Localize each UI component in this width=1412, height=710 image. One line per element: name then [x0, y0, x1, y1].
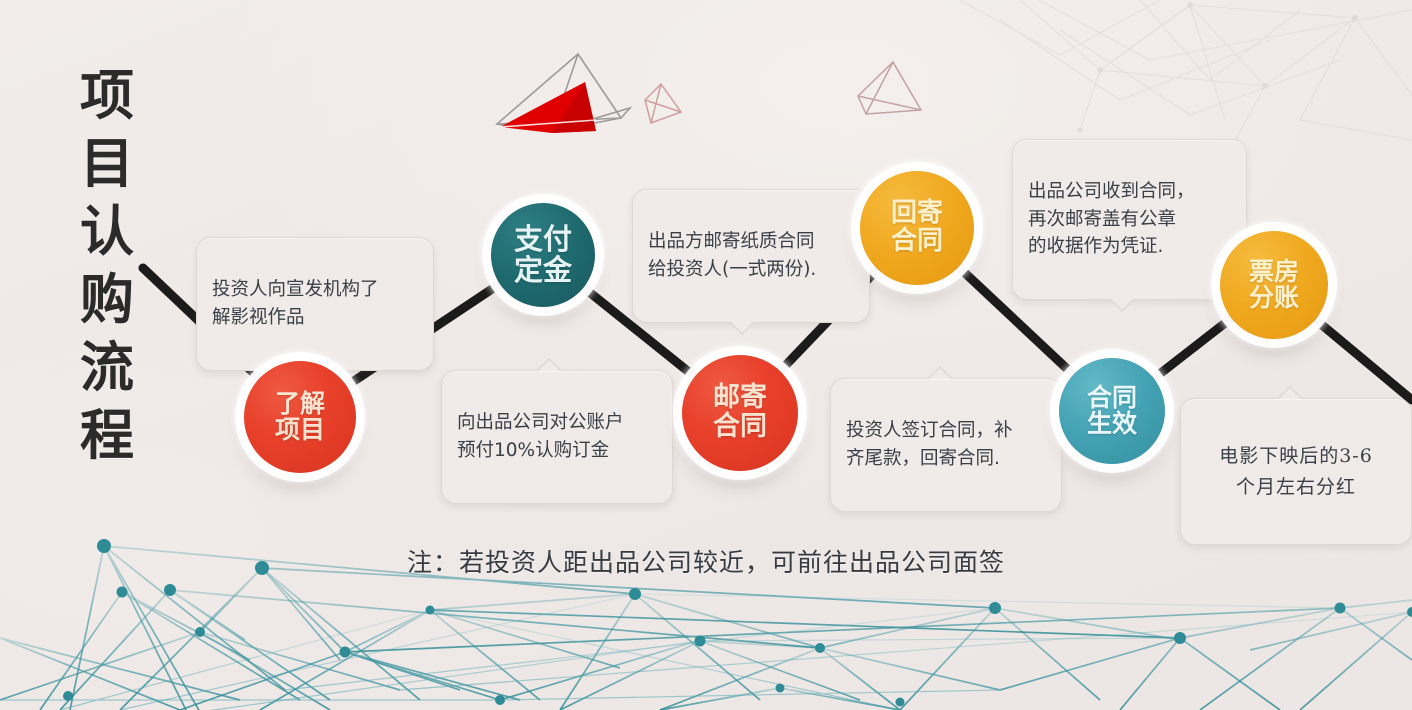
callout-text: 出品方邮寄纸质合同 给投资人(一式两份).: [648, 231, 816, 279]
callout-text: 投资人向宣发机构了 解影视作品: [212, 279, 379, 327]
callout-dividend-timing: 电影下映后的3-6 个月左右分红: [1180, 398, 1412, 545]
flow-node-label: 合同 生效: [1087, 385, 1137, 438]
callout-mail-contract: 出品方邮寄纸质合同 给投资人(一式两份).: [632, 189, 870, 323]
callout-tail-icon: [927, 366, 953, 379]
callout-text: 出品公司收到合同， 再次邮寄盖有公章 的收据作为凭证.: [1028, 181, 1195, 257]
callout-text: 向出品公司对公账户 预付10%认购订金: [457, 412, 624, 460]
footnote: 注：若投资人距出品公司较近，可前往出品公司面签: [0, 543, 1412, 579]
callout-tail-icon: [536, 358, 562, 371]
flow-node-label: 票房 分账: [1249, 259, 1299, 312]
flow-node-label: 回寄 合同: [891, 200, 943, 255]
flow-node-return-contract[interactable]: 回寄 合同: [860, 171, 974, 285]
callout-text: 投资人签订合同，补 齐尾款，回寄合同.: [846, 420, 1013, 468]
infographic-canvas: 项 目 认 购 流 程 了解 项目 支付 定金 邮寄 合同 回寄 合同 合同 生…: [0, 0, 1412, 710]
callout-sign-and-return: 投资人签订合同，补 齐尾款，回寄合同.: [830, 378, 1062, 512]
flow-node-label: 支付 定金: [514, 224, 572, 285]
callout-tail-icon: [729, 322, 755, 335]
callout-text: 电影下映后的3-6 个月左右分红: [1219, 445, 1373, 498]
callout-tail-icon: [1109, 299, 1135, 312]
flow-node-box-office-split[interactable]: 票房 分账: [1220, 231, 1328, 339]
callout-tail-icon: [1277, 386, 1303, 399]
flow-node-understand-project[interactable]: 了解 项目: [244, 361, 356, 473]
flow-node-label: 了解 项目: [275, 391, 325, 444]
flow-node-label: 邮寄 合同: [713, 384, 767, 441]
flow-node-mail-contract[interactable]: 邮寄 合同: [682, 355, 798, 471]
callout-receipt-voucher: 出品公司收到合同， 再次邮寄盖有公章 的收据作为凭证.: [1012, 139, 1247, 300]
callout-pay-deposit: 向出品公司对公账户 预付10%认购订金: [441, 370, 673, 504]
flow-node-pay-deposit[interactable]: 支付 定金: [491, 203, 595, 307]
callout-understand-project: 投资人向宣发机构了 解影视作品: [196, 237, 434, 371]
flow-node-contract-effective[interactable]: 合同 生效: [1059, 358, 1165, 464]
